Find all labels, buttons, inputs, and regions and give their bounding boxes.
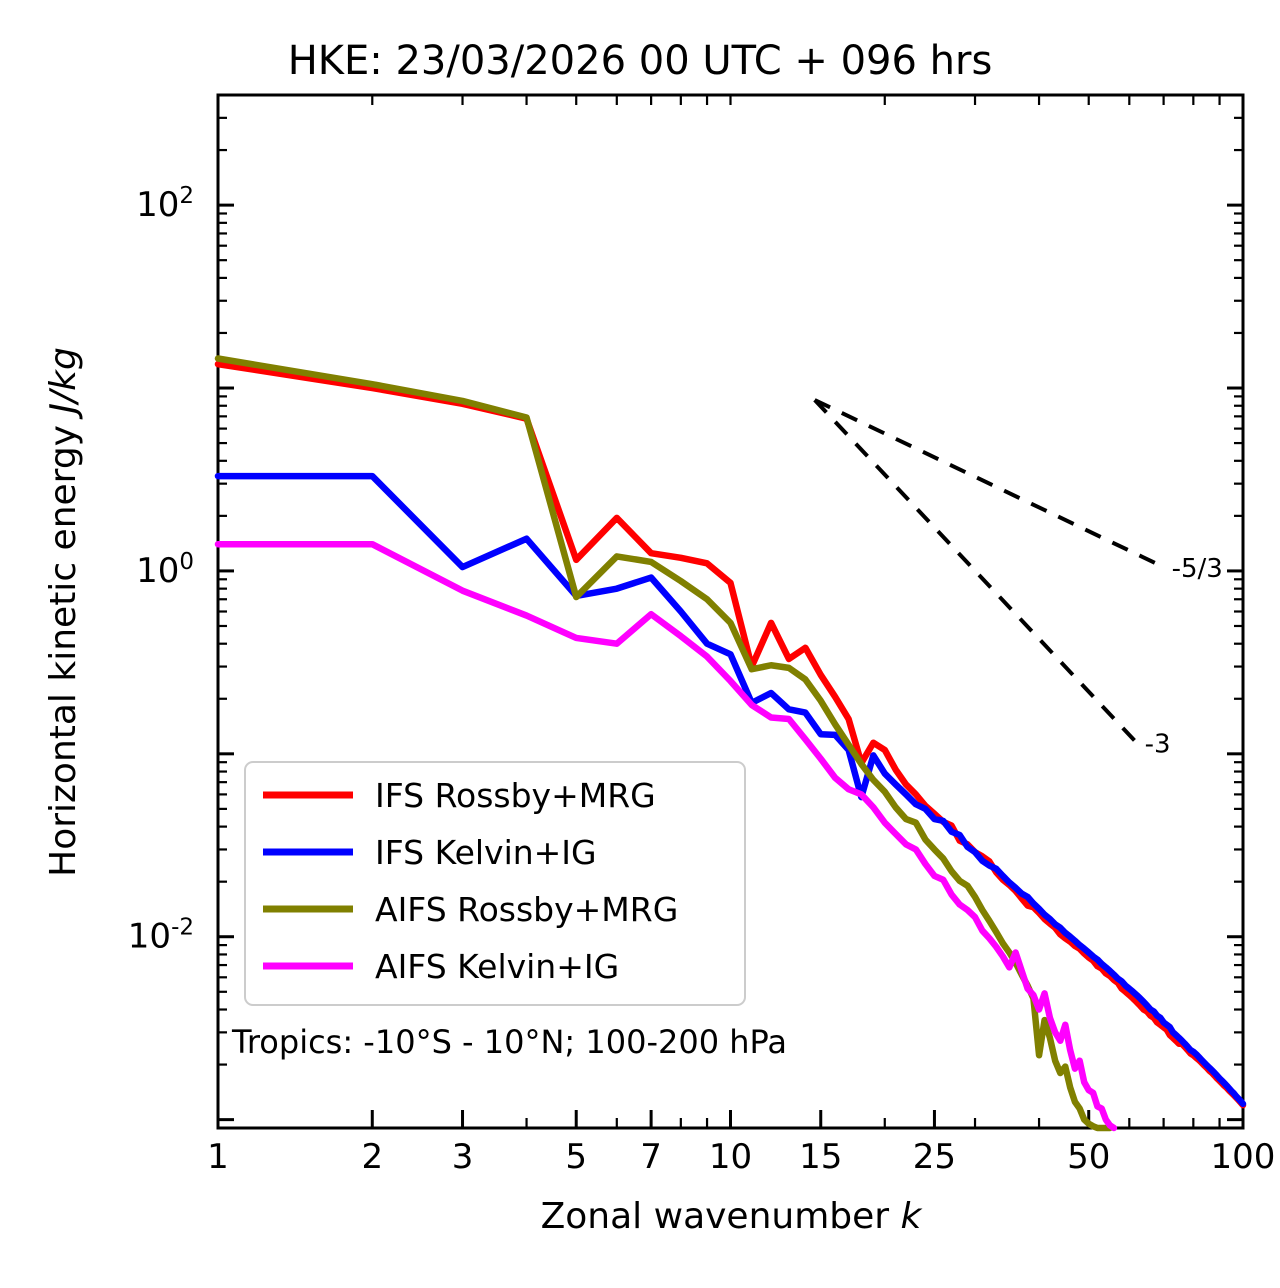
legend-label-3: AIFS Kelvin+IG (375, 947, 619, 986)
x-axis-title: Zonal wavenumber k (541, 1196, 924, 1237)
x-tick-label: 5 (565, 1137, 587, 1177)
x-tick-label: 10 (709, 1137, 752, 1177)
legend-label-0: IFS Rossby+MRG (375, 776, 656, 815)
legend[interactable]: IFS Rossby+MRGIFS Kelvin+IGAIFS Rossby+M… (245, 762, 745, 1005)
plot-area: 10210010-2 1235710152550100 -5/3-3 Horiz… (0, 0, 1280, 1288)
region-note: Tropics: -10°S - 10°N; 100-200 hPa (231, 1023, 787, 1061)
x-tick-label: 2 (361, 1137, 383, 1177)
y-tick-label: 100 (136, 549, 194, 591)
x-tick-label: 15 (799, 1137, 842, 1177)
x-tick-label: 1 (207, 1137, 229, 1177)
x-axis-title-plain: Zonal wavenumber (541, 1196, 901, 1237)
y-axis-title-italic: J/kg (43, 347, 84, 419)
legend-label-2: AIFS Rossby+MRG (375, 890, 678, 929)
y-tick-label: 102 (136, 183, 194, 225)
slope-label--3: -3 (1145, 730, 1171, 760)
x-tick-label: 100 (1211, 1137, 1276, 1177)
x-axis-title-italic: k (901, 1196, 924, 1237)
figure-canvas: HKE: 23/03/2026 00 UTC + 096 hrs 1021001… (0, 0, 1280, 1288)
y-axis-title-plain: Horizontal kinetic energy (43, 414, 84, 877)
y-axis-title: Horizontal kinetic energy J/kg (43, 347, 84, 877)
x-tick-label: 7 (640, 1137, 662, 1177)
slope-label--5-3: -5/3 (1172, 554, 1223, 584)
x-tick-label: 50 (1067, 1137, 1110, 1177)
legend-label-1: IFS Kelvin+IG (375, 833, 597, 872)
x-tick-label: 3 (452, 1137, 474, 1177)
y-tick-label: 10-2 (128, 915, 194, 957)
x-tick-label: 25 (913, 1137, 956, 1177)
